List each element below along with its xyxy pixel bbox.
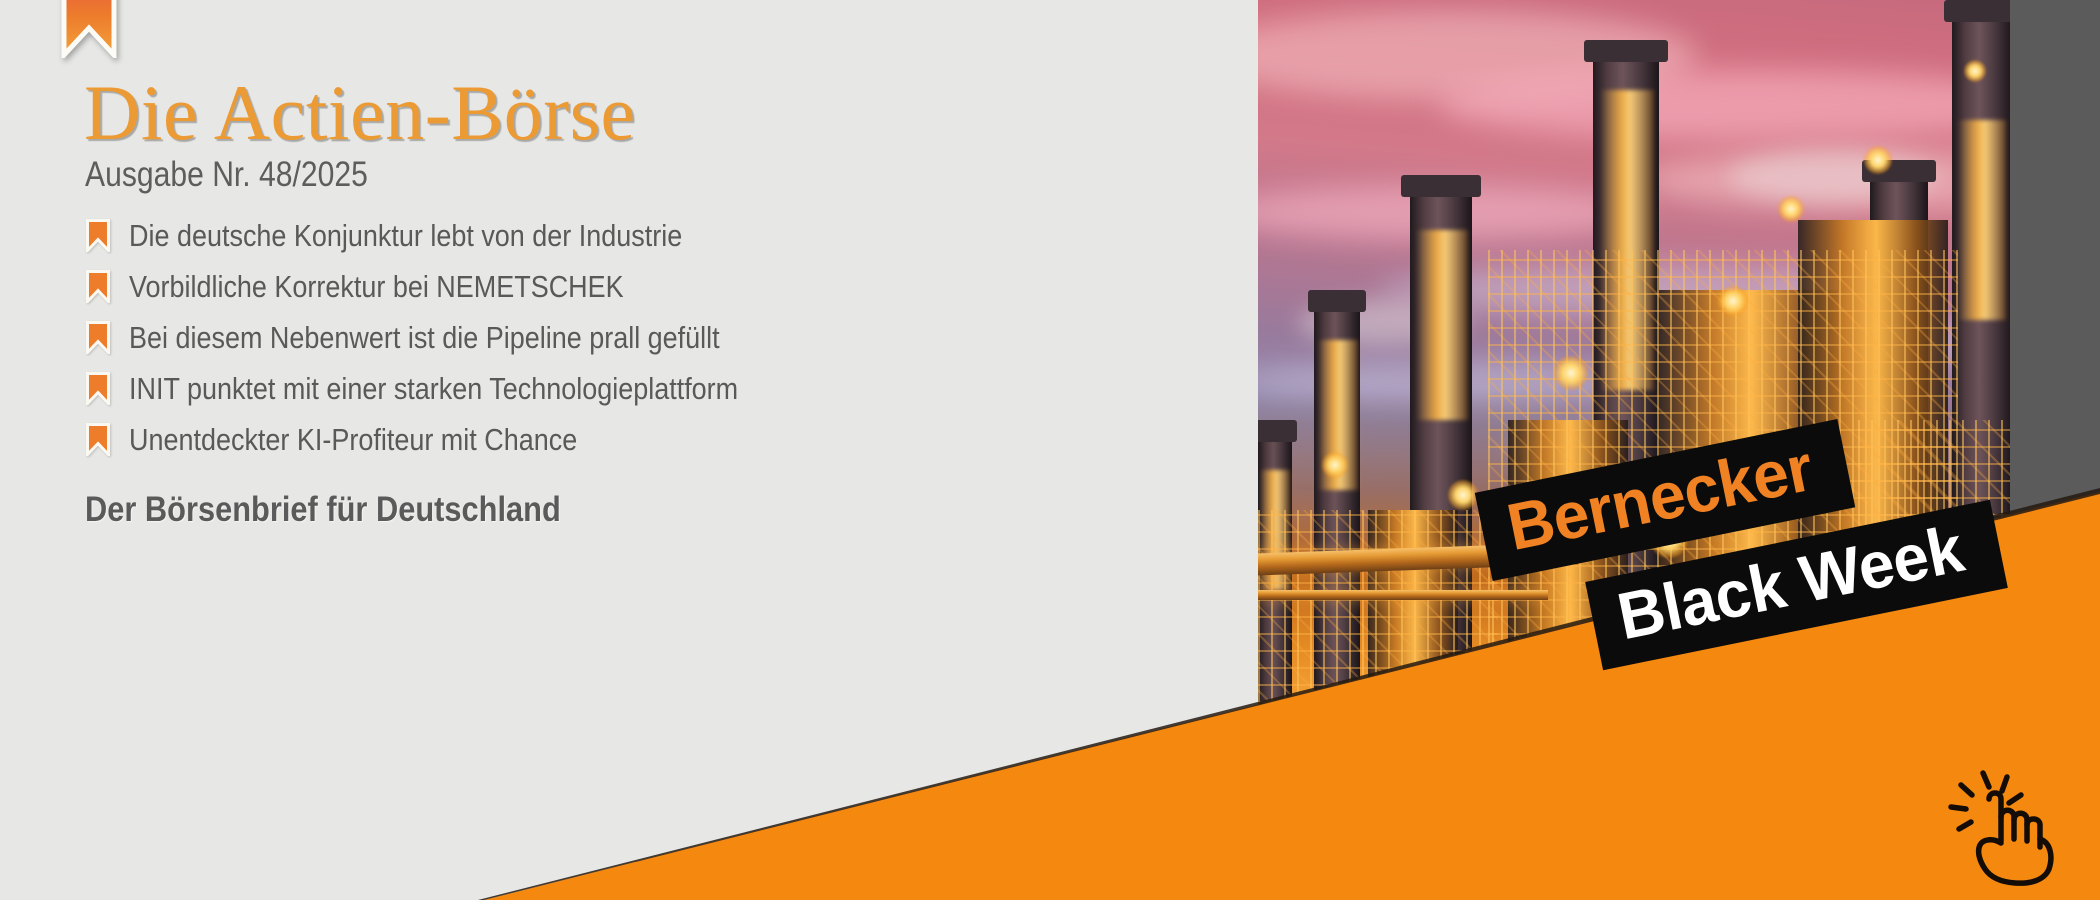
list-item[interactable]: Bei diesem Nebenwert ist die Pipeline pr… <box>85 312 1135 363</box>
list-item-label: Unentdeckter KI-Profiteur mit Chance <box>129 422 577 458</box>
bookmark-ribbon-icon <box>85 219 111 252</box>
headline-list: Die deutsche Konjunktur lebt von der Ind… <box>85 210 1135 465</box>
list-item[interactable]: Die deutsche Konjunktur lebt von der Ind… <box>85 210 1135 261</box>
flood-lamp <box>1554 356 1588 390</box>
list-item-label: Vorbildliche Korrektur bei NEMETSCHEK <box>129 269 624 305</box>
list-item[interactable]: INIT punktet mit einer starken Technolog… <box>85 363 1135 414</box>
list-item-label: INIT punktet mit einer starken Technolog… <box>129 371 738 407</box>
issue-number: Ausgabe Nr. 48/2025 <box>85 155 368 195</box>
chimney-lit-band <box>1958 120 2006 320</box>
newsletter-promo-banner: Die Actien-Börse Ausgabe Nr. 48/2025 Die… <box>0 0 2100 900</box>
list-item[interactable]: Unentdeckter KI-Profiteur mit Chance <box>85 414 1135 465</box>
list-item-label: Bei diesem Nebenwert ist die Pipeline pr… <box>129 320 720 356</box>
left-content-column: Die Actien-Börse Ausgabe Nr. 48/2025 Die… <box>0 0 1258 900</box>
flood-lamp <box>1964 60 1986 82</box>
bookmark-ribbon-icon <box>85 423 111 456</box>
chimney-lit-band <box>1416 230 1468 420</box>
flood-lamp <box>1448 480 1478 510</box>
pipe-bridge <box>1258 590 1548 600</box>
bookmark-ribbon-icon <box>85 372 111 405</box>
bookmark-ribbon-icon <box>85 321 111 354</box>
bookmark-ribbon-icon <box>85 270 111 303</box>
list-item-label: Die deutsche Konjunktur lebt von der Ind… <box>129 218 682 254</box>
flood-lamp <box>1778 196 1804 222</box>
page-title: Die Actien-Börse <box>84 74 636 152</box>
flood-lamp <box>1718 286 1748 316</box>
list-item[interactable]: Vorbildliche Korrektur bei NEMETSCHEK <box>85 261 1135 312</box>
flood-lamp <box>1322 452 1348 478</box>
flood-lamp <box>1864 146 1892 174</box>
hand-click-icon <box>1945 765 2077 887</box>
tagline: Der Börsenbrief für Deutschland <box>85 490 561 530</box>
